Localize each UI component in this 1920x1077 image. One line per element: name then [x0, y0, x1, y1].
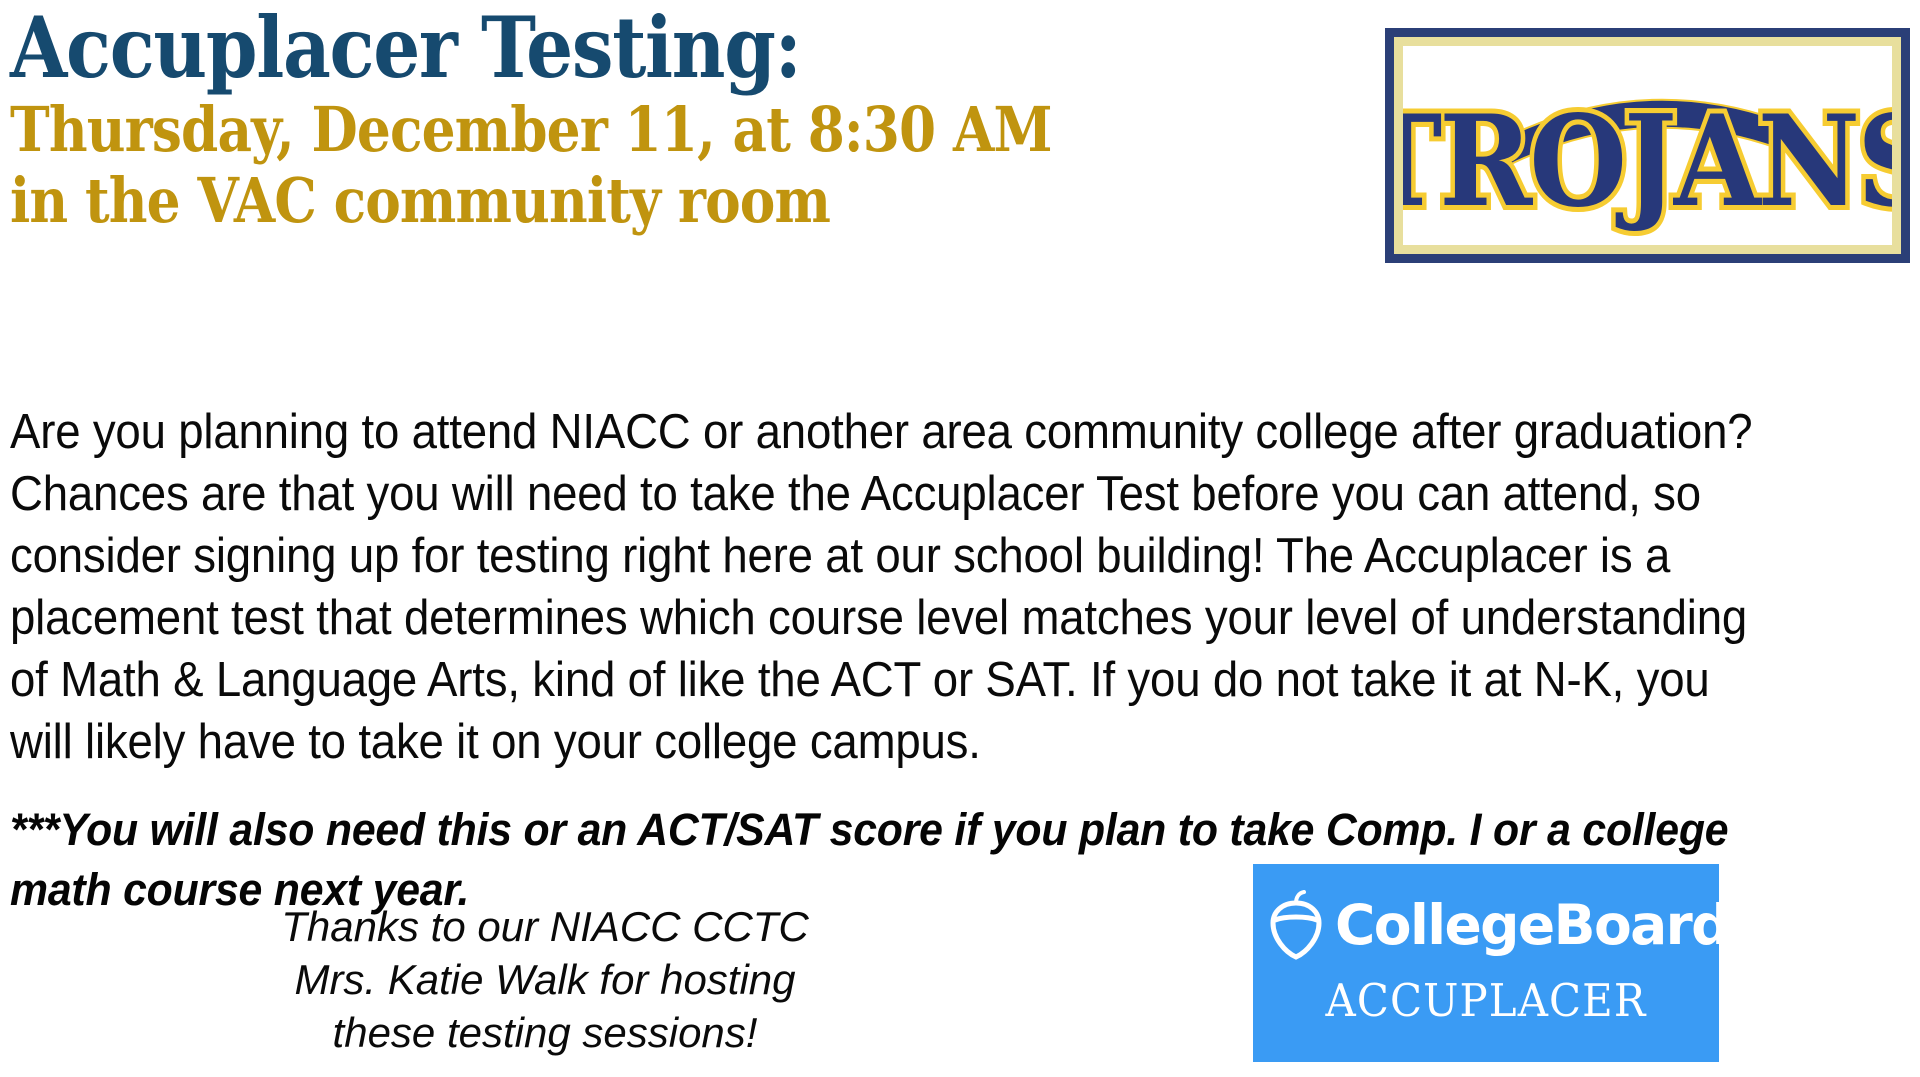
thanks-line-3: these testing sessions! — [245, 1006, 845, 1059]
accuplacer-wordmark: ACCUPLACER — [1269, 978, 1702, 1023]
flyer-header: Accuplacer Testing: Thursday, December 1… — [0, 0, 1920, 290]
thanks-block: Thanks to our NIACC CCTC Mrs. Katie Walk… — [245, 900, 845, 1059]
title-block: Accuplacer Testing: Thursday, December 1… — [10, 6, 1270, 237]
collegeboard-brand-row: CollegeBoard — [1269, 890, 1729, 960]
event-details: Thursday, December 11, at 8:30 AM in the… — [10, 95, 1094, 236]
thanks-line-1: Thanks to our NIACC CCTC — [245, 900, 845, 953]
niacc-trojans-logo: N I A C C TROJANS — [1385, 28, 1910, 263]
event-location: in the VAC community room — [10, 166, 1094, 237]
event-datetime: Thursday, December 11, at 8:30 AM — [10, 95, 1094, 166]
page-title: Accuplacer Testing: — [10, 6, 1119, 89]
collegeboard-wordmark: CollegeBoard — [1335, 898, 1729, 953]
body-paragraph: Are you planning to attend NIACC or anot… — [10, 401, 1758, 773]
thanks-line-2: Mrs. Katie Walk for hosting — [245, 953, 845, 1006]
svg-text:TROJANS: TROJANS — [1403, 88, 1892, 236]
acorn-icon — [1269, 890, 1323, 960]
trojans-mark-icon: N I A C C TROJANS — [1403, 46, 1892, 245]
flyer-page: Accuplacer Testing: Thursday, December 1… — [0, 0, 1920, 1077]
collegeboard-accuplacer-logo: CollegeBoard ACCUPLACER — [1253, 864, 1719, 1062]
niacc-logo-frame: N I A C C TROJANS — [1394, 37, 1901, 254]
